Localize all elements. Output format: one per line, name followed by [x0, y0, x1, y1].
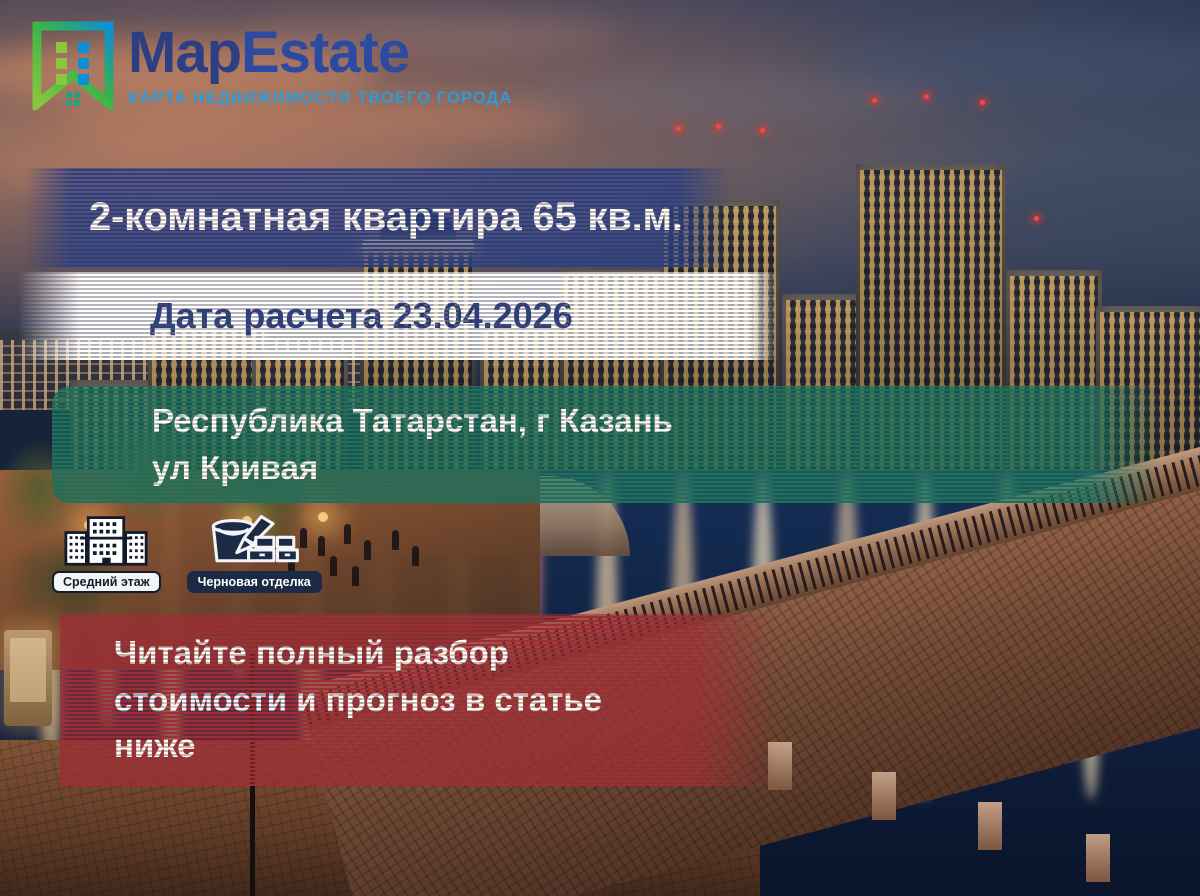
- feature-badges: Средний этаж: [52, 512, 322, 593]
- paint-bucket-trowel-bricks-icon: [200, 512, 308, 568]
- cta-line-3: ниже: [114, 723, 778, 770]
- brand-name-part2: Estate: [241, 20, 409, 85]
- cta-line-2: стоимости и прогноз в статье: [114, 677, 778, 724]
- brand-tagline: КАРТА НЕДВИЖИМОСТИ ТВОЕГО ГОРОДА: [128, 89, 512, 108]
- badge-middle-floor[interactable]: Средний этаж: [52, 512, 161, 593]
- cta-line-1: Читайте полный разбор: [114, 630, 778, 677]
- brand-name-part1: Map: [128, 20, 241, 85]
- calculation-date-banner: Дата расчета 23.04.2026: [18, 272, 778, 360]
- address-line-street: ул Кривая: [152, 445, 1162, 492]
- cta-block: Читайте полный разбор стоимости и прогно…: [60, 630, 778, 771]
- badge-rough-finish-label: Черновая отделка: [187, 571, 322, 593]
- bookmark-building-icon: [32, 18, 114, 110]
- badge-middle-floor-label: Средний этаж: [52, 571, 161, 593]
- address-line-region-city: Республика Татарстан, г Казань: [152, 398, 1162, 445]
- property-title-banner: 2-комнатная квартира 65 кв.м.: [25, 168, 730, 267]
- address-banner: Республика Татарстан, г Казань ул Кривая: [52, 386, 1162, 503]
- property-title: 2-комнатная квартира 65 кв.м.: [25, 195, 730, 240]
- cta-banner[interactable]: Читайте полный разбор стоимости и прогно…: [60, 614, 778, 786]
- buildings-middle-floor-icon: [60, 512, 152, 568]
- address-block: Республика Татарстан, г Казань ул Кривая: [52, 398, 1162, 492]
- calculation-date: Дата расчета 23.04.2026: [18, 295, 778, 337]
- brand-wordmark: MapEstate: [128, 24, 512, 82]
- badge-rough-finish[interactable]: Черновая отделка: [187, 512, 322, 593]
- real-estate-promo-poster: MapEstate КАРТА НЕДВИЖИМОСТИ ТВОЕГО ГОРО…: [0, 0, 1200, 896]
- brand-wordmark-block: MapEstate КАРТА НЕДВИЖИМОСТИ ТВОЕГО ГОРО…: [128, 18, 512, 108]
- brand-logo[interactable]: MapEstate КАРТА НЕДВИЖИМОСТИ ТВОЕГО ГОРО…: [32, 18, 512, 110]
